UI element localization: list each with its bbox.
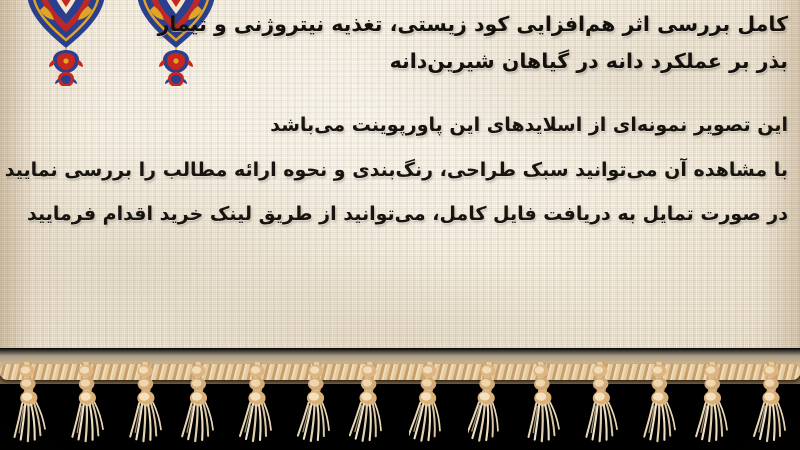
body-text-line-1: این تصویر نمونه‌ای از اسلایدهای این پاور… (270, 114, 788, 136)
fringe-tassel (237, 362, 277, 448)
slide-text-layer: کامل بررسی اثر هم‌افزایی کود زیستی، تغذی… (0, 0, 800, 378)
fringe-tassel (751, 362, 791, 448)
fringe-tassel (296, 362, 336, 448)
fringe-tassel (639, 362, 679, 448)
fringe-tassel (692, 362, 732, 448)
fringe-tassel (521, 362, 561, 448)
fringe-tassel (66, 362, 106, 448)
page-title-line-1: کامل بررسی اثر هم‌افزایی کود زیستی، تغذی… (158, 12, 788, 36)
fringe-tassel-row (0, 348, 800, 450)
fringe-tassel (125, 362, 165, 448)
fringe-tassel (7, 362, 47, 448)
body-text-line-3: در صورت تمایل به دریافت فایل کامل، می‌تو… (27, 203, 788, 225)
fringe-tassel (178, 362, 218, 448)
fringe-tassel (349, 362, 389, 448)
body-text-line-2: با مشاهده آن می‌توانید سبک طراحی، رنگ‌بن… (5, 159, 788, 181)
slide-canvas: کامل بررسی اثر هم‌افزایی کود زیستی، تغذی… (0, 0, 800, 450)
fringe-tassel (580, 362, 620, 448)
fringe-tassel (468, 362, 508, 448)
page-title-line-2: بذر بر عملکرد دانه در گیاهان شیرین‌دانه (390, 49, 788, 73)
fringe-tassel (409, 362, 449, 448)
carpet-fringe-tassels (0, 348, 800, 450)
